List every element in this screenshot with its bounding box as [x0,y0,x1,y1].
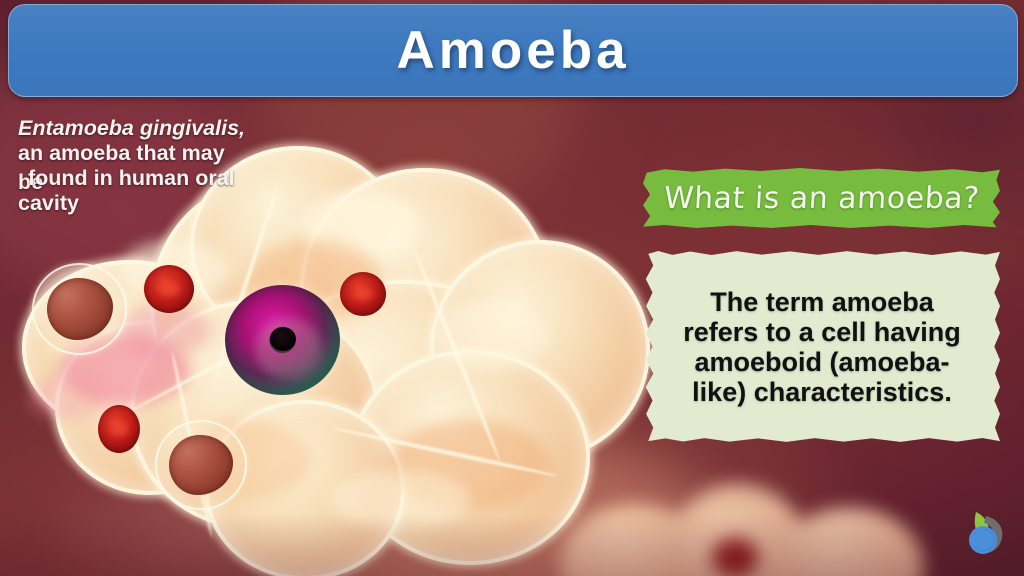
red-blood-cell [144,265,194,313]
cytoplasm-texture [330,470,470,530]
definition-text: The term amoeba refers to a cell having … [672,287,972,407]
vacuole-granule [47,278,113,340]
nucleus [225,285,340,395]
cytoplasm-granules-pink [28,375,108,421]
question-banner: What is an amoeba? [643,168,1000,228]
vacuole-granule [169,435,233,495]
image-caption: Entamoeba gingivalis, an amoeba that may… [18,116,318,216]
caption-line-3: be found in human oral [18,166,318,191]
caption-species-name: Entamoeba gingivalis, [18,116,318,141]
caption-line-4: cavity [18,191,318,216]
nucleolus [270,327,296,351]
page-title: Amoeba [396,20,629,81]
caption-line-2: an amoeba that may [18,141,318,166]
question-text: What is an amoeba? [663,181,980,216]
food-vacuole [32,263,127,355]
red-blood-cell [340,272,386,316]
red-blood-cell [98,405,140,453]
definition-card: The term amoeba refers to a cell having … [644,250,1000,443]
caption-line-3-text: found in human oral [28,166,235,191]
title-bar: Amoeba [8,4,1018,97]
biology-online-logo[interactable] [962,508,1008,560]
food-vacuole [155,420,247,510]
slide-canvas: Amoeba Entamoeba gingivalis, an amoeba t… [0,0,1024,576]
